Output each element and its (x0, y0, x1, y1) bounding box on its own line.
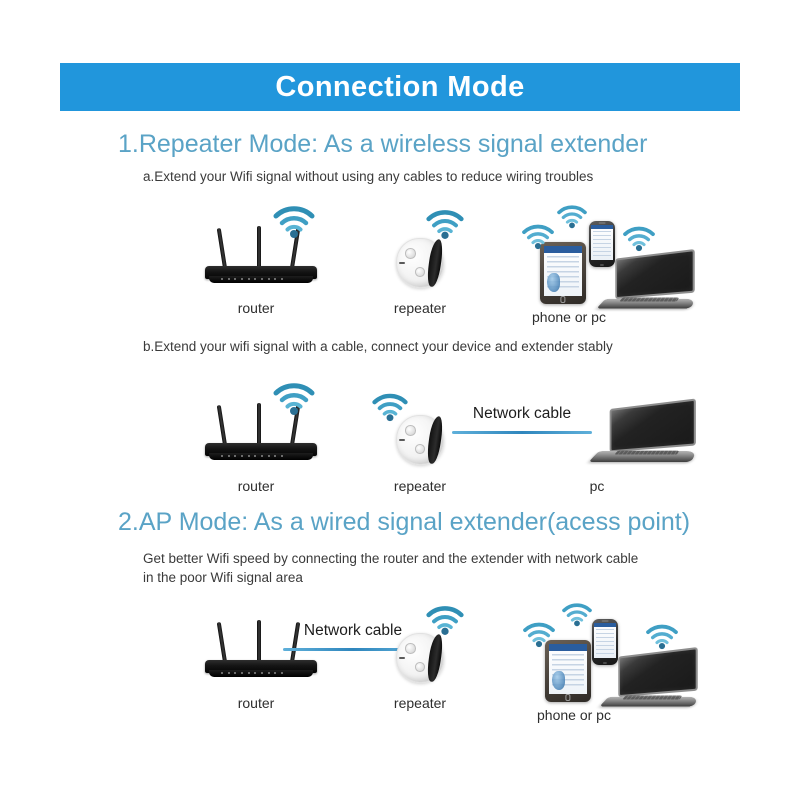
wifi-signal-icon (425, 603, 465, 636)
section-heading-ap-mode: 2.AP Mode: As a wired signal extender(ac… (118, 508, 690, 537)
network-cable-label-b: Network cable (473, 405, 571, 423)
tablet-device-ap (545, 640, 591, 702)
router-label-ap: router (238, 695, 275, 711)
section-note-ap-1: Get better Wifi speed by connecting the … (143, 549, 638, 568)
repeater-label-ap: repeater (394, 695, 446, 711)
router-label-b: router (238, 478, 275, 494)
router-label-a: router (238, 300, 275, 316)
wifi-signal-icon (272, 380, 316, 416)
repeater-device-a (396, 238, 444, 288)
repeater-device-ap (396, 633, 444, 683)
wifi-signal-icon (425, 207, 465, 240)
wifi-signal-icon (622, 224, 656, 252)
pc-laptop-device-b (594, 404, 694, 466)
repeater-label-a: repeater (394, 300, 446, 316)
tablet-device-a (540, 242, 586, 304)
wifi-signal-icon (521, 222, 555, 250)
wifi-signal-icon (522, 620, 556, 648)
repeater-device-b (396, 415, 444, 465)
wifi-signal-icon (272, 203, 316, 239)
repeater-label-b: repeater (394, 478, 446, 494)
pc-label-b: pc (590, 478, 605, 494)
wifi-signal-icon (645, 622, 679, 650)
laptop-device-a (601, 254, 693, 312)
page-title: Connection Mode (275, 71, 524, 104)
section-note-repeater-a: a.Extend your Wifi signal without using … (143, 167, 593, 186)
wifi-signal-icon (371, 391, 409, 422)
section-heading-repeater-mode: 1.Repeater Mode: As a wireless signal ex… (118, 130, 647, 159)
wifi-signal-icon (556, 203, 588, 229)
devices-label-ap: phone or pc (537, 707, 611, 723)
network-cable-line (452, 431, 592, 434)
laptop-device-ap (604, 652, 696, 710)
devices-label-a: phone or pc (532, 309, 606, 325)
section-note-ap-2: in the poor Wifi signal area (143, 568, 303, 587)
section-note-repeater-b: b.Extend your wifi signal with a cable, … (143, 337, 613, 356)
wifi-signal-icon (561, 601, 593, 627)
network-cable-label-ap: Network cable (304, 622, 402, 640)
header-banner: Connection Mode (60, 63, 740, 111)
